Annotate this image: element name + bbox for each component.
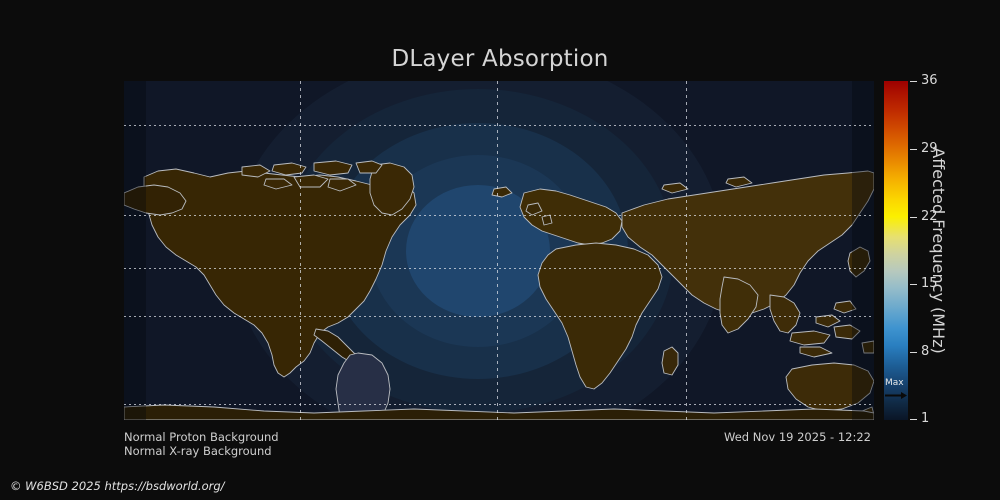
tick-mark (910, 419, 917, 420)
tick-mark (910, 81, 917, 82)
gridline-lat-cancer (124, 215, 874, 216)
gridline-lon-prime (497, 81, 498, 420)
note-xray-background: Normal X-ray Background (124, 444, 272, 458)
gridline-lat-capricorn (124, 316, 874, 317)
world-map[interactable] (124, 81, 874, 420)
dlayer-absorption-map-page: DLayer Absorption (0, 0, 1000, 500)
tick-mark (910, 217, 917, 218)
gridline-lon-east90 (686, 81, 687, 420)
credit-line: © W6BSD 2025 https://bsdworld.org/ (10, 479, 225, 493)
colorbar-max-label: Max (885, 378, 909, 388)
colorbar-max-arrow-icon (885, 392, 907, 399)
note-proton-background: Normal Proton Background (124, 430, 279, 444)
page-title: DLayer Absorption (0, 46, 1000, 72)
timestamp: Wed Nov 19 2025 - 12:22 (724, 430, 871, 444)
tick-mark (910, 284, 917, 285)
gridline-lat-equator (124, 268, 874, 269)
colorbar-axis-title: Affected Frequency (MHz) (926, 81, 950, 420)
colorbar[interactable]: Max 36 29 22 15 8 (884, 81, 908, 420)
colorbar-gradient (884, 81, 908, 420)
gridline-lat-arctic (124, 125, 874, 126)
map-canvas (124, 81, 874, 420)
gridline-lat-antarctic (124, 404, 874, 405)
tick-mark (910, 149, 917, 150)
tick-mark (910, 352, 917, 353)
gridline-lon-west90 (300, 81, 301, 420)
